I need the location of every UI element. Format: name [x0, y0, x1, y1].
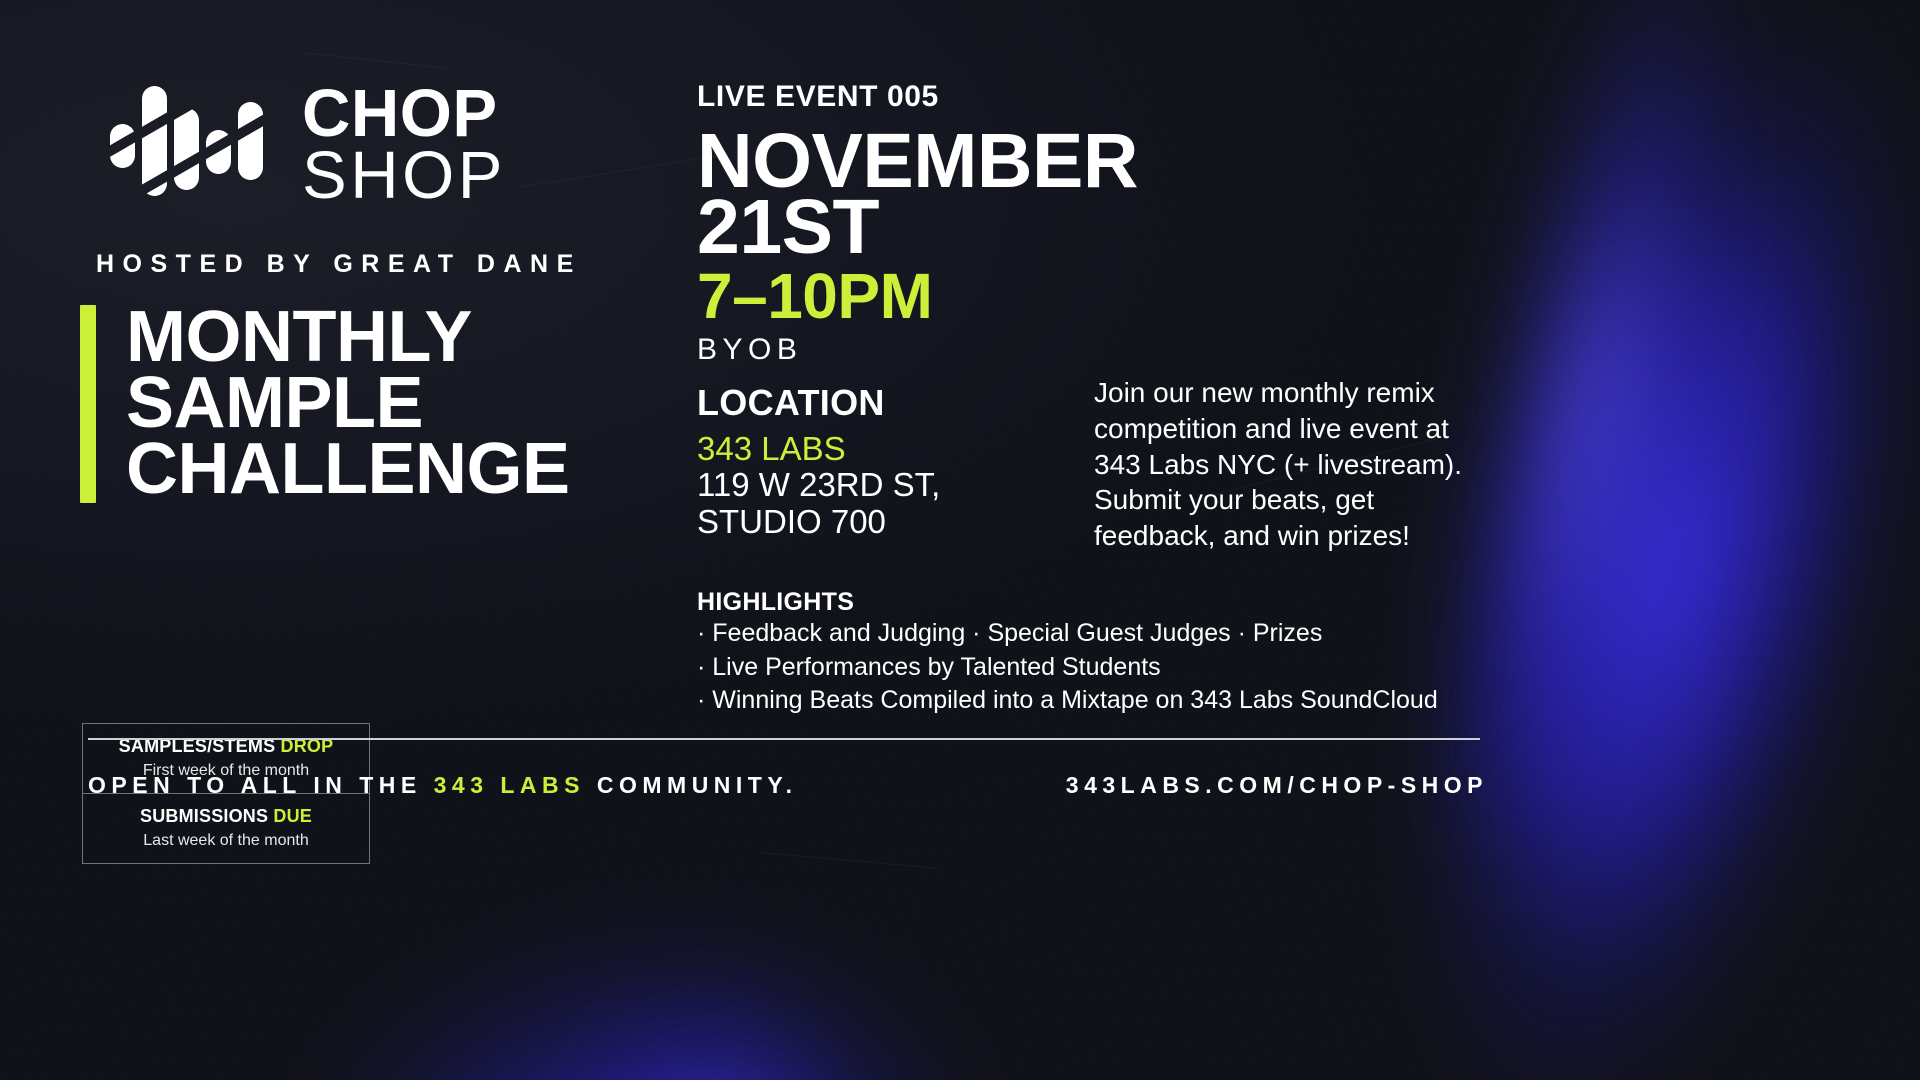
highlights-heading: HIGHLIGHTS — [697, 588, 1438, 617]
chop-shop-waveform-logo-icon — [108, 78, 276, 208]
footer-suffix: COMMUNITY. — [585, 772, 798, 798]
event-description: Join our new monthly remix competition a… — [1094, 375, 1494, 554]
schedule-box-subtext: Last week of the month — [83, 832, 369, 850]
event-number-label: LIVE EVENT 005 — [697, 80, 1138, 114]
footer-community-line: OPEN TO ALL IN THE 343 LABS COMMUNITY. — [88, 772, 798, 799]
brand-logo: CHOP SHOP — [108, 78, 506, 208]
title-line-3: CHALLENGE — [126, 437, 570, 503]
main-title: MONTHLY SAMPLE CHALLENGE — [80, 305, 570, 503]
hosted-by-label: HOSTED BY GREAT DANE — [96, 250, 582, 279]
location-address-line-2: STUDIO 700 — [697, 504, 940, 541]
location-details: LOCATION 343 LABS 119 W 23RD ST, STUDIO … — [697, 382, 940, 541]
brand-name-chop: CHOP — [302, 83, 506, 145]
event-time: 7–10PM — [697, 266, 1138, 327]
location-address-line-1: 119 W 23RD ST, — [697, 467, 940, 504]
event-details: LIVE EVENT 005 NOVEMBER 21ST 7–10PM BYOB — [697, 80, 1138, 367]
location-venue-name: 343 LABS — [697, 431, 940, 467]
title-accent-bar — [80, 305, 96, 503]
highlight-item: · Feedback and Judging · Special Guest J… — [697, 617, 1438, 651]
brand-name-shop: SHOP — [302, 145, 506, 207]
footer-accent-343-labs: 343 LABS — [434, 772, 585, 798]
footer-website-url[interactable]: 343LABS.COM/CHOP-SHOP — [1066, 772, 1488, 799]
footer-prefix: OPEN TO ALL IN THE — [88, 772, 434, 798]
schedule-box-heading-accent: DUE — [273, 806, 312, 826]
schedule-box-heading: SUBMISSIONS DUE — [83, 806, 369, 827]
title-line-2: SAMPLE — [126, 371, 570, 437]
highlights-section: HIGHLIGHTS · Feedback and Judging · Spec… — [697, 588, 1438, 718]
highlight-item: · Winning Beats Compiled into a Mixtape … — [697, 684, 1438, 718]
footer-divider — [88, 738, 1480, 740]
event-flyer: CHOP SHOP HOSTED BY GREAT DANE MONTHLY S… — [0, 0, 1920, 1080]
location-heading: LOCATION — [697, 382, 940, 424]
schedule-box-heading-plain: SUBMISSIONS — [140, 806, 273, 826]
title-line-1: MONTHLY — [126, 305, 570, 371]
schedule-box-submissions-due: SUBMISSIONS DUE Last week of the month — [82, 794, 370, 864]
title-lines: MONTHLY SAMPLE CHALLENGE — [126, 305, 570, 503]
footer: OPEN TO ALL IN THE 343 LABS COMMUNITY. 3… — [88, 772, 1488, 799]
highlight-item: · Live Performances by Talented Students — [697, 651, 1438, 685]
event-day: 21ST — [697, 194, 1138, 260]
event-byob-note: BYOB — [697, 333, 1138, 367]
brand-wordmark: CHOP SHOP — [302, 79, 506, 208]
